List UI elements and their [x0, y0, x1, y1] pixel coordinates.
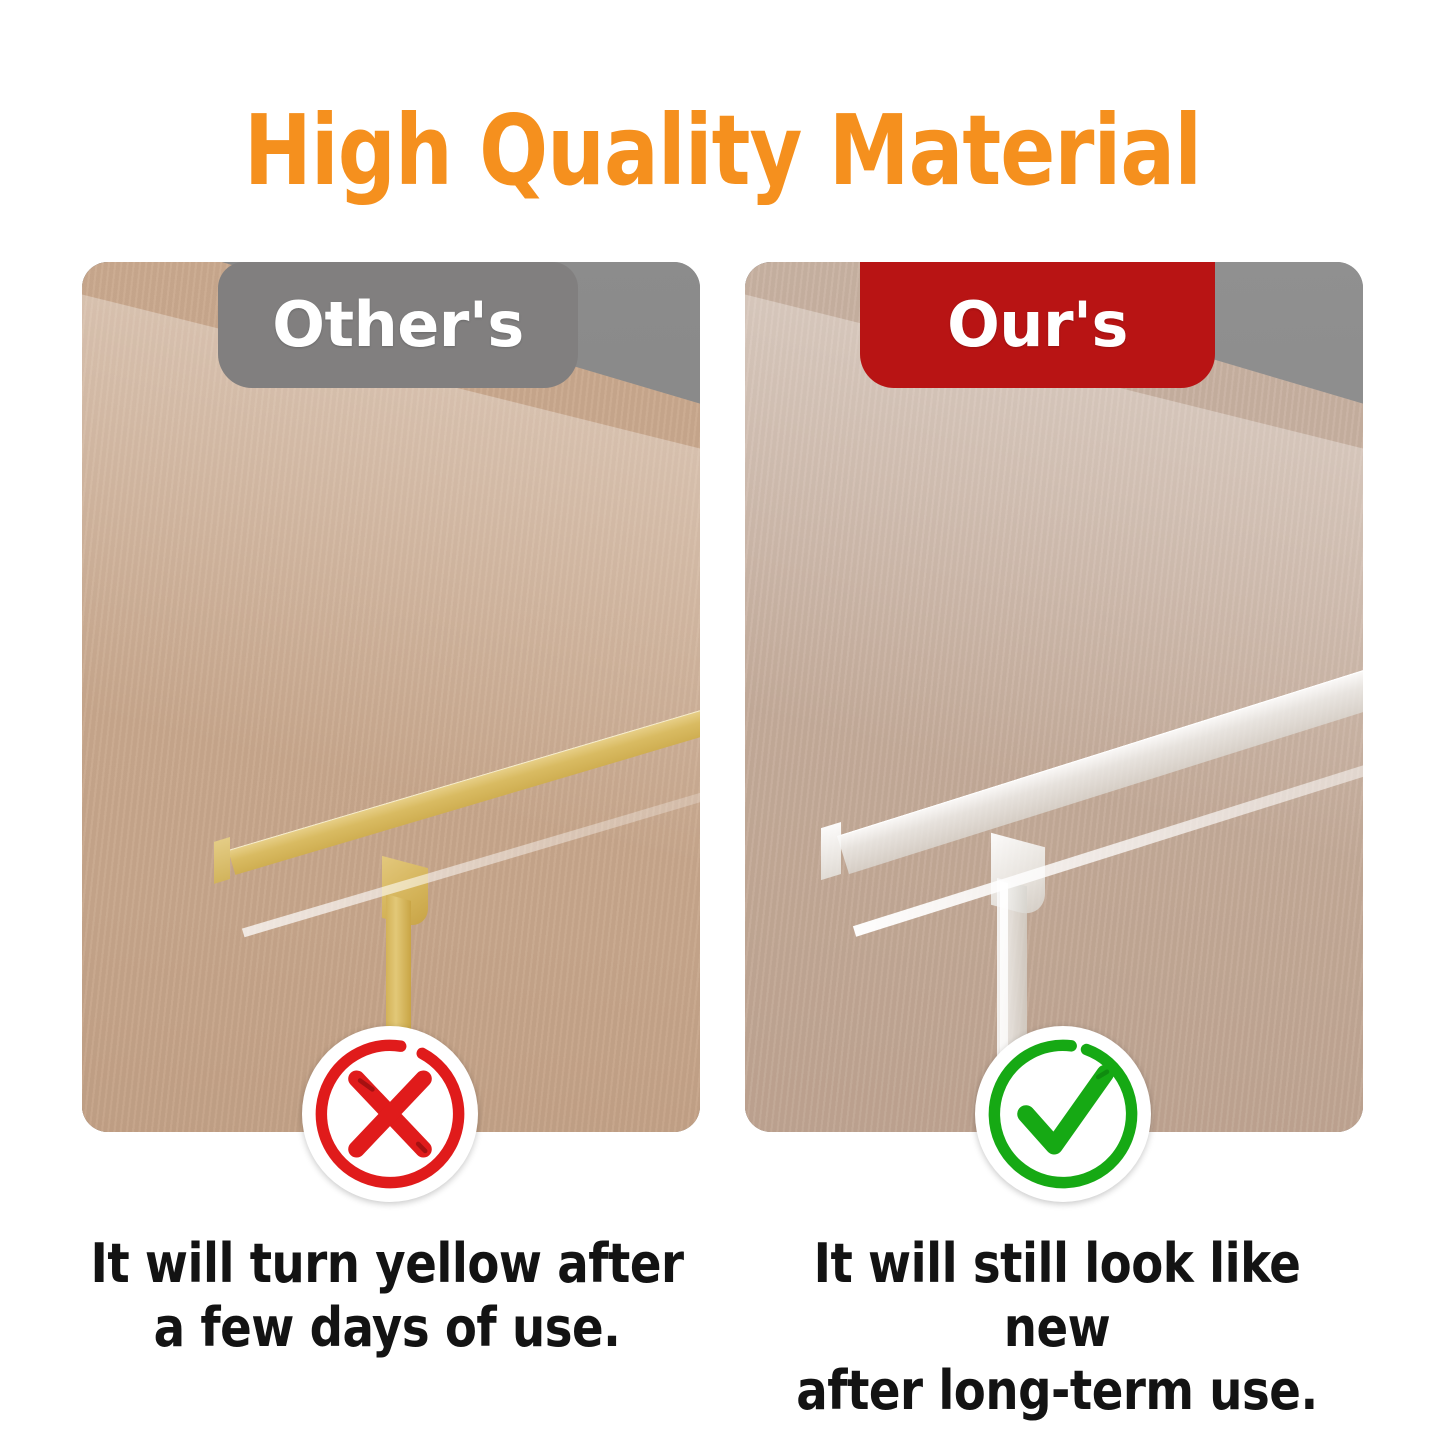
edge-guard-side-return: [821, 822, 841, 880]
caption-other-line2: a few days of use.: [90, 1296, 683, 1360]
check-mark-icon: [975, 1026, 1151, 1202]
photo-ours: [745, 262, 1363, 1132]
caption-ours-line1: It will still look like new: [760, 1232, 1353, 1359]
photo-other: [82, 262, 700, 1132]
comparison-panel-ours: [745, 262, 1363, 1132]
badge-other: Other's: [218, 262, 578, 388]
caption-other: It will turn yellow after a few days of …: [90, 1232, 683, 1359]
caption-other-line1: It will turn yellow after: [90, 1232, 683, 1296]
page-title: High Quality Material: [51, 102, 1395, 199]
product-comparison-image: High Quality Material Other's: [0, 0, 1445, 1445]
edge-guard-side-return: [214, 837, 230, 884]
badge-ours: Our's: [860, 262, 1215, 388]
verdict-other: [302, 1026, 478, 1202]
badge-ours-label: Our's: [947, 294, 1128, 356]
caption-ours-line2: after long-term use.: [760, 1359, 1353, 1423]
badge-other-label: Other's: [272, 294, 524, 356]
table-top-surface: [745, 262, 1363, 1132]
verdict-ours: [975, 1026, 1151, 1202]
caption-ours: It will still look like new after long-t…: [760, 1232, 1353, 1423]
cross-mark-icon: [302, 1026, 478, 1202]
comparison-panel-other: [82, 262, 700, 1132]
